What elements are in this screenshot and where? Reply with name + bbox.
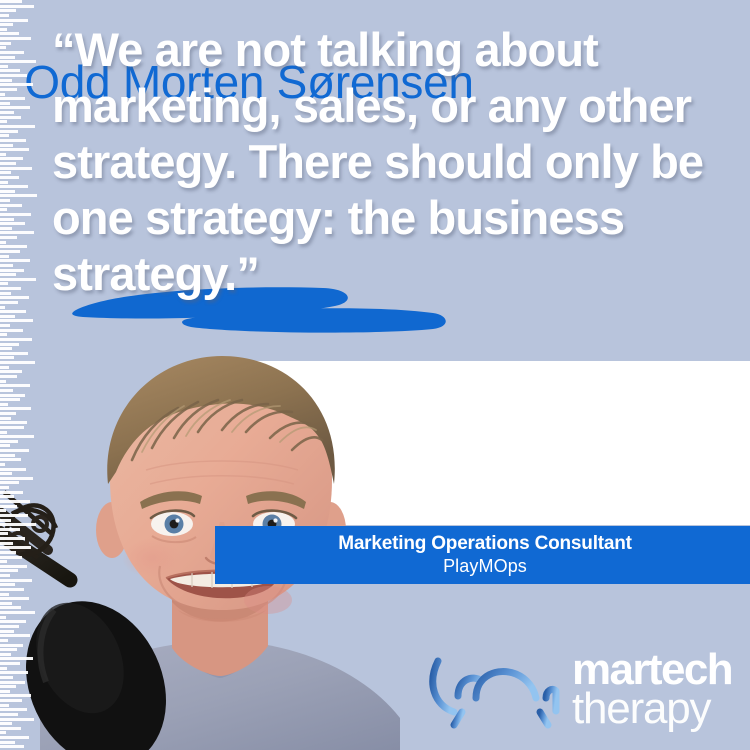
martech-therapy-logo: martech therapy xyxy=(428,644,728,736)
logo-word-therapy: therapy xyxy=(572,690,732,729)
waveform-bar xyxy=(0,343,19,346)
waveform-bar xyxy=(0,213,31,216)
waveform-bar xyxy=(0,250,20,253)
quote-text: “We are not talking about marketing, sal… xyxy=(52,22,742,302)
waveform-bar xyxy=(0,176,19,179)
waveform-bar xyxy=(0,319,33,322)
waveform-bar xyxy=(0,269,24,272)
waveform-bar xyxy=(0,301,18,304)
waveform-bar xyxy=(0,236,17,239)
waveform-bar xyxy=(0,324,10,327)
waveform-bar xyxy=(0,259,30,262)
waveform-bar xyxy=(0,347,12,350)
waveform-bar xyxy=(0,227,12,230)
quote-block: “We are not talking about marketing, sal… xyxy=(52,22,742,302)
waveform-bar xyxy=(0,315,15,318)
waveform-bar xyxy=(0,199,10,202)
waveform-bar xyxy=(0,181,8,184)
waveform-bar xyxy=(0,204,22,207)
waveform-bar xyxy=(0,208,7,211)
waveform-bar xyxy=(0,273,16,276)
waveform-bar xyxy=(0,292,11,295)
logo-wordmark: martech therapy xyxy=(572,651,732,728)
waveform-bar xyxy=(0,245,27,248)
waveform-bar xyxy=(0,167,32,170)
waveform-bar xyxy=(0,333,7,336)
waveform-bar xyxy=(0,329,23,332)
waveform-bar xyxy=(0,338,32,341)
waveform-bar xyxy=(0,171,11,174)
waveform-bar xyxy=(0,190,15,193)
waveform-bar xyxy=(0,231,34,234)
waveform-bar xyxy=(0,264,13,267)
waveform-bar xyxy=(0,194,37,197)
speaker-role-bar: Marketing Operations Consultant PlayMOps xyxy=(215,526,750,584)
waveform-bar xyxy=(0,222,25,225)
quote-card: Odd Morten Sørensen Marketing Operations… xyxy=(0,0,750,750)
waveform-bar xyxy=(0,278,36,281)
waveform-bar xyxy=(0,310,26,313)
waveform-bar xyxy=(0,185,28,188)
speaker-company: PlayMOps xyxy=(443,555,527,577)
waveform-bar xyxy=(0,282,8,285)
speaker-role-title: Marketing Operations Consultant xyxy=(338,533,632,555)
waveform-bar xyxy=(0,306,5,309)
waveform-bar xyxy=(0,241,6,244)
waveform-bar xyxy=(0,218,14,221)
waveform-bar xyxy=(0,296,29,299)
role-bar-inner: Marketing Operations Consultant PlayMOps xyxy=(255,526,715,584)
waveform-bar xyxy=(0,255,9,258)
couch-icon xyxy=(428,649,568,731)
waveform-bar xyxy=(0,287,21,290)
